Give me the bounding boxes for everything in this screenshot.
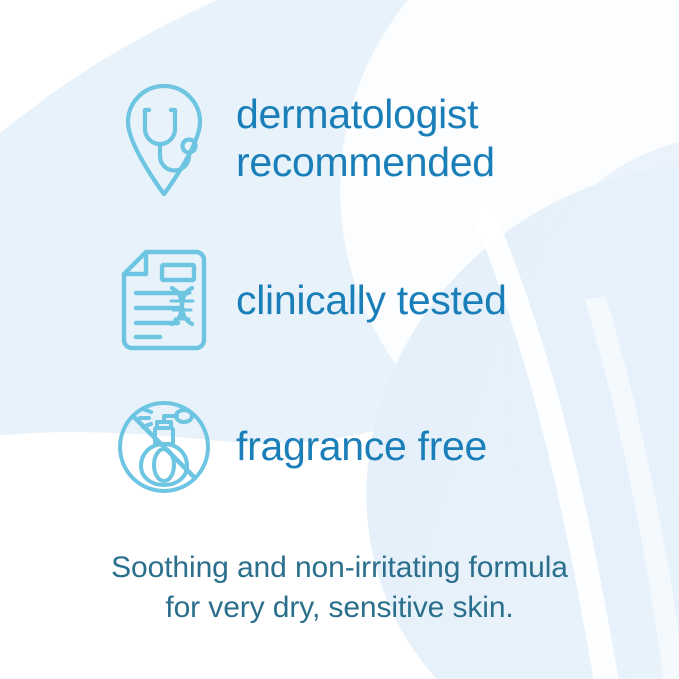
feature-row-dermatologist-recommended: dermatologist recommended bbox=[112, 80, 495, 198]
product-feature-card: dermatologist recommended bbox=[0, 0, 679, 679]
location-pin-stethoscope-icon bbox=[112, 80, 216, 198]
feature-label-fragrance-free: fragrance free bbox=[236, 423, 487, 471]
feature-row-clinically-tested: clinically tested bbox=[112, 248, 507, 354]
no-fragrance-bottle-icon bbox=[112, 398, 216, 496]
document-dna-icon bbox=[112, 248, 216, 354]
footer-description: Soothing and non-irritating formula for … bbox=[0, 548, 679, 627]
feature-label-clinically-tested: clinically tested bbox=[236, 277, 507, 325]
feature-row-fragrance-free: fragrance free bbox=[112, 398, 487, 496]
feature-label-dermatologist-recommended: dermatologist recommended bbox=[236, 91, 495, 186]
